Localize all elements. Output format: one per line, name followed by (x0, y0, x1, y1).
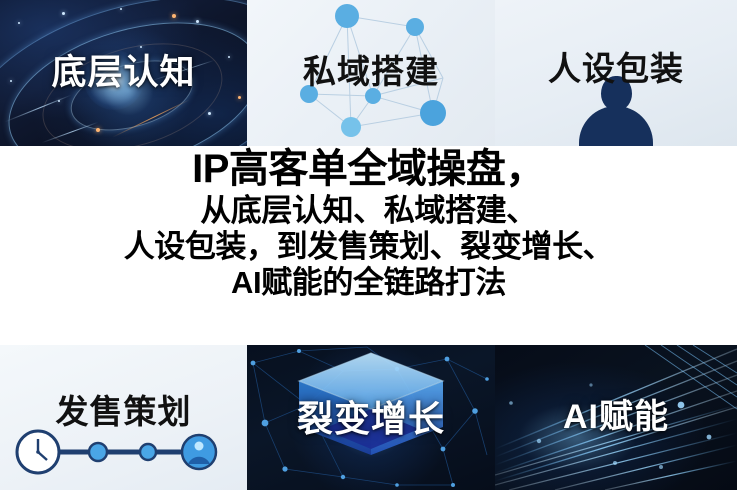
tile-launch-planning[interactable]: 发售策划 (0, 345, 247, 490)
tile-label-ai-empowerment: AI赋能 (495, 389, 737, 438)
tile-label-persona-packaging: 人设包装 (495, 42, 737, 90)
tile-label-foundational-cognition: 底层认知 (0, 44, 247, 95)
top-tile-row: 底层认知 (0, 0, 737, 146)
spark-icon (208, 112, 211, 115)
tile-label-launch-planning: 发售策划 (0, 385, 247, 433)
tile-foundational-cognition[interactable]: 底层认知 (0, 0, 247, 146)
tile-private-domain-build[interactable]: 私域搭建 (247, 0, 495, 146)
tile-viral-growth[interactable]: 裂变增长 (247, 345, 495, 490)
spark-icon (196, 20, 199, 23)
headline-line-4: AI赋能的全链路打法 (231, 267, 506, 299)
bottom-tile-row: 发售策划 (0, 345, 737, 490)
spark-icon (96, 128, 100, 132)
tile-label-viral-growth: 裂变增长 (247, 390, 495, 442)
headline-line-2: 从底层认知、私域搭建、 (200, 195, 537, 227)
poster-root: 底层认知 (0, 0, 737, 490)
tile-label-private-domain-build: 私域搭建 (247, 45, 495, 93)
tile-ai-empowerment[interactable]: AI赋能 (495, 345, 737, 490)
spark-icon (18, 22, 20, 24)
spark-icon (238, 96, 241, 99)
spark-icon (172, 14, 176, 18)
headline-line-1: IP高客单全域操盘， (192, 149, 545, 191)
tile-persona-packaging[interactable]: 人设包装 (495, 0, 737, 146)
timeline-node-icon (140, 444, 156, 460)
person-body-icon (579, 106, 653, 146)
spark-icon (58, 100, 60, 102)
spark-icon (120, 8, 122, 10)
headline-block: IP高客单全域操盘， 从底层认知、私域搭建、 人设包装，到发售策划、裂变增长、 … (0, 146, 737, 345)
headline-line-3: 人设包装，到发售策划、裂变增长、 (124, 231, 614, 263)
spark-icon (62, 12, 65, 15)
timeline-node-icon (89, 443, 107, 461)
